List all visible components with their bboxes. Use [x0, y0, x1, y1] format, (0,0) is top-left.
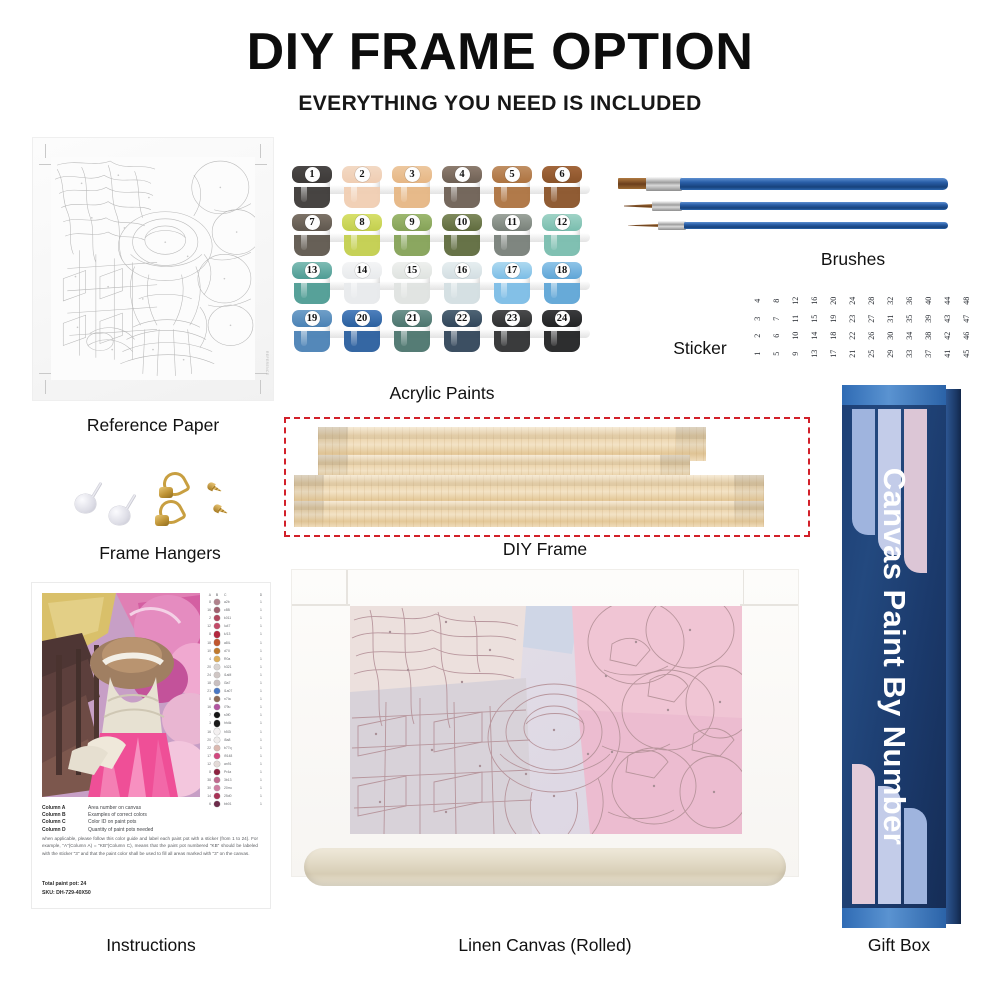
legend-area-number: 14	[202, 794, 213, 798]
paint-pot-number: 10	[442, 214, 482, 231]
paint-pot-19: 19	[292, 310, 332, 355]
instructions-column-value: Color ID on paint pots	[88, 819, 136, 825]
paint-pot-24: 24	[542, 310, 582, 355]
legend-row: 17i91481	[202, 752, 264, 760]
legend-quantity: 1	[258, 641, 264, 645]
paint-pot-number: 14	[342, 262, 382, 279]
legend-quantity: 1	[258, 713, 264, 717]
legend-quantity: 1	[258, 778, 264, 782]
label-sticker: Sticker	[652, 338, 748, 359]
legend-area-number: 17	[202, 754, 213, 758]
legend-color-swatch	[213, 712, 221, 719]
legend-area-number: 18	[202, 641, 213, 645]
legend-area-number: 8	[202, 770, 213, 774]
legend-color-swatch	[213, 599, 221, 606]
legend-row: 22b77q1	[202, 744, 264, 752]
sticker-number: 24	[844, 291, 862, 310]
liner-brush-fine	[628, 222, 948, 229]
instructions-column-key-label: Column A	[42, 805, 88, 811]
legend-color-swatch	[213, 639, 221, 646]
gift-box-text: Canvas Paint By Number	[842, 385, 946, 928]
reference-paper-image: REFERENCE	[33, 138, 273, 400]
paint-pot-18: 18	[542, 262, 582, 307]
sticker-number: 29	[882, 344, 900, 363]
paint-pot-number: 5	[492, 166, 532, 183]
paint-pot-13: 13	[292, 262, 332, 307]
sticker-number: 5	[768, 344, 786, 363]
legend-quantity: 1	[258, 600, 264, 604]
legend-row: 12lu471	[202, 622, 264, 630]
legend-color-id: a8IL	[221, 641, 258, 645]
paint-pot-number: 24	[542, 310, 582, 327]
sticker-number: 9	[787, 344, 805, 363]
legend-color-id: hh4k	[221, 721, 258, 725]
legend-row: 8a2b1	[202, 598, 264, 606]
sticker-number: 13	[806, 344, 824, 363]
legend-area-number: 4	[202, 657, 213, 661]
legend-quantity: 1	[258, 616, 264, 620]
frame-bar	[294, 501, 764, 527]
paint-pot-6: 6	[542, 166, 582, 211]
instructions-column-value: Examples of correct colors	[88, 812, 147, 818]
paint-pot-number: 3	[392, 166, 432, 183]
sticker-number: 26	[863, 326, 881, 345]
legend-area-number: 10	[202, 649, 213, 653]
sticker-number: 34	[901, 326, 919, 345]
sticker-number: 23	[844, 309, 862, 328]
legend-color-swatch	[213, 631, 221, 638]
legend-color-id: 3b13	[221, 778, 258, 782]
sticker-number: 16	[806, 291, 824, 310]
legend-area-number: 24	[202, 673, 213, 677]
sticker-number: 22	[844, 326, 862, 345]
legend-color-swatch	[213, 744, 221, 751]
legend-area-number: 8	[202, 632, 213, 636]
sticker-number: 2	[749, 326, 767, 345]
legend-area-number: 16	[202, 705, 213, 709]
legend-area-number: 16	[202, 608, 213, 612]
legend-row: 12an911	[202, 760, 264, 768]
sticker-number: 15	[806, 309, 824, 328]
paint-pot-number: 20	[342, 310, 382, 327]
sticker-number: 41	[939, 344, 957, 363]
legend-color-swatch	[213, 696, 221, 703]
legend-color-id: l3a7	[221, 681, 258, 685]
paint-pot-number: 15	[392, 262, 432, 279]
legend-row: 383b131	[202, 776, 264, 784]
legend-color-id: l1a07	[221, 689, 258, 693]
paint-pot-1: 1	[292, 166, 332, 211]
gift-box-image: Canvas Paint By Number	[834, 385, 964, 928]
instructions-column-key: Column AArea number on canvasColumn BExa…	[42, 805, 260, 834]
legend-color-id: k/13	[221, 632, 258, 636]
legend-row: 8n7Ia1	[202, 695, 264, 703]
instructions-paragraph: when applicable, please follow this colo…	[42, 835, 258, 857]
legend-color-id: i5a8	[221, 738, 258, 742]
legend-area-number: 16	[202, 730, 213, 734]
instructions-column-line: Column DQuantity of paint pots needed	[42, 827, 260, 833]
legend-color-id: an91	[221, 762, 258, 766]
paint-pot-15: 15	[392, 262, 432, 307]
legend-quantity: 1	[258, 673, 264, 677]
label-diy-frame: DIY Frame	[284, 539, 806, 560]
sticker-number: 40	[920, 291, 938, 310]
sticker-number: 1	[749, 344, 767, 363]
legend-area-number: 12	[202, 762, 213, 766]
legend-row: 2k0111	[202, 614, 264, 622]
legend-color-swatch	[213, 680, 221, 687]
paint-pot-number: 8	[342, 214, 382, 231]
paint-pot-2: 2	[342, 166, 382, 211]
legend-row: 18a8IL1	[202, 638, 264, 646]
legend-area-number: 12	[202, 624, 213, 628]
sticker-number: 7	[768, 309, 786, 328]
screw	[212, 503, 229, 517]
paint-pot-row: 789101112	[292, 214, 592, 260]
legend-color-swatch	[213, 793, 221, 800]
legend-color-id: n7Ia	[221, 697, 258, 701]
page-subtitle: EVERYTHING YOU NEED IS INCLUDED	[0, 92, 1000, 116]
legend-area-number: 8	[202, 600, 213, 604]
legend-color-swatch	[213, 664, 221, 671]
legend-color-swatch	[213, 736, 221, 743]
legend-area-number: 30	[202, 786, 213, 790]
legend-row: 8k/131	[202, 630, 264, 638]
paint-pot-7: 7	[292, 214, 332, 259]
paint-pot-number: 13	[292, 262, 332, 279]
sticker-number: 32	[882, 291, 900, 310]
paint-pot-number: 22	[442, 310, 482, 327]
legend-quantity: 1	[258, 705, 264, 709]
legend-row: 4R0a1	[202, 655, 264, 663]
instructions-column-key-label: Column D	[42, 827, 88, 833]
legend-area-number: 20	[202, 738, 213, 742]
page-title: DIY FRAME OPTION	[0, 26, 1000, 78]
paint-pot-number: 23	[492, 310, 532, 327]
linen-canvas-image	[292, 570, 798, 920]
instructions-column-key-label: Column C	[42, 819, 88, 825]
legend-color-swatch	[213, 769, 221, 776]
legend-quantity: 1	[258, 762, 264, 766]
legend-header-row: ABCD	[202, 591, 264, 598]
legend-color-swatch	[213, 688, 221, 695]
label-instructions: Instructions	[32, 935, 270, 956]
paint-pot-number: 7	[292, 214, 332, 231]
paint-pot-number: 17	[492, 262, 532, 279]
legend-quantity: 1	[258, 697, 264, 701]
legend-color-swatch	[213, 615, 221, 622]
sticker-number: 36	[901, 291, 919, 310]
legend-row: 16c8B1	[202, 606, 264, 614]
linen-canvas-print	[350, 606, 742, 834]
legend-area-number: 20	[202, 665, 213, 669]
legend-row: 16h5Gi1	[202, 728, 264, 736]
legend-color-swatch	[213, 623, 221, 630]
paint-pot-8: 8	[342, 214, 382, 259]
legend-color-id: a2b	[221, 600, 258, 604]
legend-color-swatch	[213, 704, 221, 711]
sticker-number: 11	[787, 309, 805, 328]
legend-area-number: 3	[202, 721, 213, 725]
sticker-number: 6	[768, 326, 786, 345]
legend-color-swatch	[213, 672, 221, 679]
round-brush-medium	[624, 202, 948, 210]
legend-color-id: i79u	[221, 705, 258, 709]
paint-pot-number: 18	[542, 262, 582, 279]
legend-quantity: 1	[258, 632, 264, 636]
d-ring	[155, 500, 177, 526]
label-gift-box: Gift Box	[834, 935, 964, 956]
legend-color-swatch	[213, 647, 221, 654]
paint-pot-14: 14	[342, 262, 382, 307]
sticker-number: 33	[901, 344, 919, 363]
d-ring	[159, 472, 181, 498]
sticker-number: 30	[882, 326, 900, 345]
instructions-column-line: Column AArea number on canvas	[42, 805, 260, 811]
instructions-artwork	[42, 593, 200, 797]
sticker-number: 39	[920, 309, 938, 328]
legend-color-swatch	[213, 761, 221, 768]
reference-paper-side-code: REFERENCE	[265, 351, 269, 376]
legend-color-swatch	[213, 728, 221, 735]
legend-color-id: 20rru	[221, 786, 258, 790]
legend-color-id: R0a	[221, 657, 258, 661]
sticker-number: 10	[787, 326, 805, 345]
label-acrylic-paints: Acrylic Paints	[292, 383, 592, 404]
paint-pot-4: 4	[442, 166, 482, 211]
sticker-number: 38	[920, 326, 938, 345]
diy-frame-image	[284, 417, 810, 537]
legend-quantity: 1	[258, 770, 264, 774]
paint-pot-10: 10	[442, 214, 482, 259]
paint-pot-11: 11	[492, 214, 532, 259]
sticker-number: 27	[863, 309, 881, 328]
legend-quantity: 1	[258, 746, 264, 750]
legend-quantity: 1	[258, 624, 264, 628]
paint-pot-number: 4	[442, 166, 482, 183]
sticker-number: 19	[825, 309, 843, 328]
legend-color-id: h5Gi	[221, 730, 258, 734]
legend-quantity: 1	[258, 689, 264, 693]
paint-pot-number: 12	[542, 214, 582, 231]
legend-color-swatch	[213, 753, 221, 760]
legend-color-swatch	[213, 720, 221, 727]
reference-paper-lineart	[51, 157, 255, 380]
instructions-column-key-label: Column B	[42, 812, 88, 818]
legend-color-id: k011	[221, 616, 258, 620]
legend-row: 24i1aM1	[202, 671, 264, 679]
sticker-number: 48	[958, 291, 976, 310]
sticker-number: 28	[863, 291, 881, 310]
paint-pot-23: 23	[492, 310, 532, 355]
acrylic-paints-group: 123456789101112131415161718192021222324	[292, 166, 592, 356]
sticker-sheet-image: 4812162024283236404448371115192327313539…	[748, 292, 976, 362]
legend-area-number: 8	[202, 697, 213, 701]
legend-color-id: Pr4a	[221, 770, 258, 774]
paint-pot-22: 22	[442, 310, 482, 355]
instructions-footer: Total paint pot: 24 SKU: DH-729-40X50	[42, 881, 258, 898]
legend-color-swatch	[213, 785, 221, 792]
label-frame-hangers: Frame Hangers	[40, 543, 280, 564]
sticker-number: 44	[939, 291, 957, 310]
legend-area-number: 18	[202, 681, 213, 685]
sticker-number: 20	[825, 291, 843, 310]
legend-row: 1425d01	[202, 792, 264, 800]
legend-color-id: s0f0	[221, 713, 258, 717]
screw	[206, 481, 223, 495]
legend-color-id: h321	[221, 665, 258, 669]
sticker-number: 43	[939, 309, 957, 328]
legend-area-number: 22	[202, 746, 213, 750]
paint-pot-number: 9	[392, 214, 432, 231]
sticker-number: 21	[844, 344, 862, 363]
legend-quantity: 1	[258, 657, 264, 661]
paint-pot-9: 9	[392, 214, 432, 259]
legend-area-number: 2	[202, 616, 213, 620]
legend-color-id: lu47	[221, 624, 258, 628]
instructions-color-legend: ABCD8a2b116c8B12k011112lu4718k/13118a8IL…	[202, 591, 264, 813]
sticker-number: 4	[749, 291, 767, 310]
sticker-number: 3	[749, 309, 767, 328]
legend-row: 10d7II1	[202, 647, 264, 655]
legend-row: 21l1a071	[202, 687, 264, 695]
paint-pot-number: 19	[292, 310, 332, 327]
legend-quantity: 1	[258, 721, 264, 725]
legend-color-id: i1aM	[221, 673, 258, 677]
legend-area-number: 7	[202, 713, 213, 717]
legend-quantity: 1	[258, 786, 264, 790]
instructions-column-line: Column BExamples of correct colors	[42, 812, 260, 818]
legend-color-swatch	[213, 607, 221, 614]
sticker-number: 47	[958, 309, 976, 328]
legend-row: 3hh4k1	[202, 719, 264, 727]
legend-quantity: 1	[258, 754, 264, 758]
sticker-number: 35	[901, 309, 919, 328]
legend-row: 8Pr4a1	[202, 768, 264, 776]
legend-quantity: 1	[258, 794, 264, 798]
paint-pot-12: 12	[542, 214, 582, 259]
frame-hangers-group	[63, 466, 258, 534]
sticker-number: 18	[825, 326, 843, 345]
legend-row: 20i5a81	[202, 736, 264, 744]
paint-pot-number: 6	[542, 166, 582, 183]
paint-pot-row: 131415161718	[292, 262, 592, 308]
label-reference-paper: Reference Paper	[33, 415, 273, 436]
legend-color-swatch	[213, 777, 221, 784]
legend-area-number: 21	[202, 689, 213, 693]
legend-row: 18l3a71	[202, 679, 264, 687]
paint-pot-row: 192021222324	[292, 310, 592, 356]
product-infographic: DIY FRAME OPTION EVERYTHING YOU NEED IS …	[0, 0, 1000, 1000]
paint-pot-number: 11	[492, 214, 532, 231]
paint-pot-number: 16	[442, 262, 482, 279]
instructions-column-value: Area number on canvas	[88, 805, 141, 811]
legend-area-number: 38	[202, 778, 213, 782]
legend-color-id: d7II	[221, 649, 258, 653]
paint-pot-3: 3	[392, 166, 432, 211]
legend-quantity: 1	[258, 738, 264, 742]
sticker-number: 46	[958, 326, 976, 345]
legend-row: 3020rru1	[202, 784, 264, 792]
sticker-number: 17	[825, 344, 843, 363]
label-brushes: Brushes	[758, 249, 948, 270]
paint-pot-number: 2	[342, 166, 382, 183]
legend-row: 16i79u1	[202, 703, 264, 711]
instructions-sheet-image: ABCD8a2b116c8B12k011112lu4718k/13118a8IL…	[32, 583, 270, 908]
paint-pot-row: 123456	[292, 166, 592, 212]
total-paint-pot: Total paint pot: 24	[42, 881, 258, 887]
legend-quantity: 1	[258, 730, 264, 734]
brushes-group	[618, 176, 948, 246]
sticker-number: 25	[863, 344, 881, 363]
legend-color-id: b77q	[221, 746, 258, 750]
sticker-number: 31	[882, 309, 900, 328]
legend-quantity: 1	[258, 649, 264, 653]
legend-quantity: 1	[258, 665, 264, 669]
canvas-roll	[304, 848, 786, 886]
paint-pot-16: 16	[442, 262, 482, 307]
flat-brush	[618, 178, 948, 190]
legend-row: 20h3211	[202, 663, 264, 671]
legend-quantity: 1	[258, 681, 264, 685]
paint-pot-number: 1	[292, 166, 332, 183]
legend-color-swatch	[213, 655, 221, 662]
paint-pot-5: 5	[492, 166, 532, 211]
legend-color-id: c8B	[221, 608, 258, 612]
legend-color-id: 25d0	[221, 794, 258, 798]
sku-line: SKU: DH-729-40X50	[42, 890, 258, 896]
sticker-number: 14	[806, 326, 824, 345]
sticker-number: 45	[958, 344, 976, 363]
label-linen-canvas: Linen Canvas (Rolled)	[292, 935, 798, 956]
paint-pot-20: 20	[342, 310, 382, 355]
paint-pot-number: 21	[392, 310, 432, 327]
legend-quantity: 1	[258, 608, 264, 612]
paint-pot-21: 21	[392, 310, 432, 355]
legend-row: 7s0f01	[202, 711, 264, 719]
sticker-number: 12	[787, 291, 805, 310]
sticker-number: 42	[939, 326, 957, 345]
instructions-column-value: Quantity of paint pots needed	[88, 827, 153, 833]
legend-color-id: i9148	[221, 754, 258, 758]
sticker-number: 37	[920, 344, 938, 363]
instructions-column-line: Column CColor ID on paint pots	[42, 819, 260, 825]
sticker-number: 8	[768, 291, 786, 310]
paint-pot-17: 17	[492, 262, 532, 307]
